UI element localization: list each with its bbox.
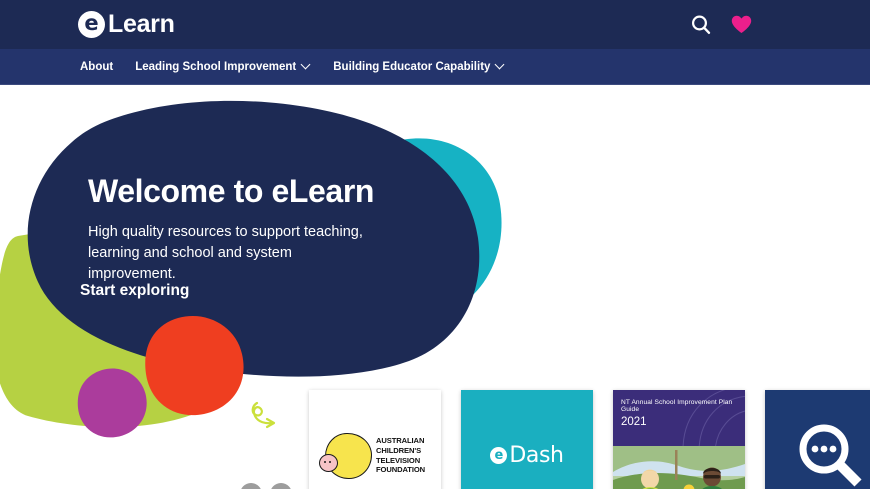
nav-item-label: Leading School Improvement — [135, 61, 296, 73]
curly-arrow-icon — [248, 398, 278, 432]
school-review-tile — [765, 390, 870, 489]
card-thumbnail — [765, 390, 870, 489]
nav-item-label: Building Educator Capability — [333, 61, 490, 73]
edash-mark-letter: e — [494, 449, 503, 462]
search-button[interactable] — [690, 14, 712, 36]
red-blob-shape — [145, 316, 243, 415]
hero-banner: Welcome to eLearn High quality resources… — [0, 86, 870, 489]
asip-cover-header: NT Annual School Improvement Plan Guide … — [613, 390, 745, 446]
nav-item-about[interactable]: About — [80, 61, 113, 73]
nav-item-leading-school-improvement[interactable]: Leading School Improvement — [135, 61, 311, 73]
elearn-homepage: e Learn About Leading — [0, 0, 870, 489]
actf-wordmark: AUSTRALIAN CHILDREN'S TELEVISION FOUNDAT… — [376, 436, 425, 474]
logo-mark-letter: e — [84, 13, 98, 34]
asip-year: 2021 — [621, 416, 737, 428]
hero-title: Welcome to eLearn — [88, 174, 408, 209]
actf-line: AUSTRALIAN — [376, 436, 425, 446]
start-exploring-link[interactable]: Start exploring — [80, 282, 189, 300]
carousel-prev-button[interactable] — [240, 483, 262, 489]
resource-card-strip: AUSTRALIAN CHILDREN'S TELEVISION FOUNDAT… — [309, 390, 870, 489]
actf-line: CHILDREN'S — [376, 446, 425, 456]
nav-item-label: About — [80, 61, 113, 73]
resource-card-actf[interactable]: AUSTRALIAN CHILDREN'S TELEVISION FOUNDAT… — [309, 390, 441, 489]
actf-logo: AUSTRALIAN CHILDREN'S TELEVISION FOUNDAT… — [309, 390, 441, 489]
hero-text-block: Welcome to eLearn High quality resources… — [88, 174, 408, 285]
students-garden-photo — [613, 446, 745, 489]
logo-e-icon: e — [78, 11, 105, 38]
resource-card-edash[interactable]: e Dash eDash — [461, 390, 593, 489]
search-icon — [690, 14, 712, 36]
edash-e-icon: e — [490, 447, 507, 464]
site-header: e Learn — [0, 0, 870, 49]
asip-cover-photo — [613, 446, 745, 489]
favourites-button[interactable] — [731, 15, 752, 34]
carousel-next-button[interactable] — [270, 483, 292, 489]
main-navigation: About Leading School Improvement Buildin… — [0, 49, 870, 85]
header-actions — [690, 14, 752, 36]
heart-icon — [731, 15, 752, 34]
edash-logo: e Dash — [461, 390, 593, 489]
hero-subtitle: High quality resources to support teachi… — [88, 222, 373, 285]
resource-card-asip[interactable]: NT Annual School Improvement Plan Guide … — [613, 390, 745, 489]
nav-item-building-educator-capability[interactable]: Building Educator Capability — [333, 61, 505, 73]
purple-blob-shape — [78, 368, 147, 437]
card-thumbnail: AUSTRALIAN CHILDREN'S TELEVISION FOUNDAT… — [309, 390, 441, 489]
actf-line: FOUNDATION — [376, 465, 425, 475]
site-logo[interactable]: e Learn — [78, 10, 175, 39]
chevron-down-icon — [302, 61, 311, 70]
logo-text: Learn — [108, 10, 175, 39]
magnifier-dots-icon — [794, 419, 868, 489]
actf-line: TELEVISION — [376, 456, 425, 466]
chevron-down-icon — [496, 61, 505, 70]
card-thumbnail: NT Annual School Improvement Plan Guide … — [613, 390, 745, 489]
asip-guide-title: NT Annual School Improvement Plan Guide — [621, 399, 737, 413]
resource-card-school-review[interactable]: School Review — [765, 390, 870, 489]
edash-wordmark: Dash — [509, 443, 563, 468]
nav-items: About Leading School Improvement Buildin… — [80, 61, 505, 73]
carousel-arrows — [240, 483, 292, 489]
actf-face-icon — [319, 454, 338, 472]
actf-blob-icon — [325, 433, 372, 479]
card-thumbnail: e Dash — [461, 390, 593, 489]
